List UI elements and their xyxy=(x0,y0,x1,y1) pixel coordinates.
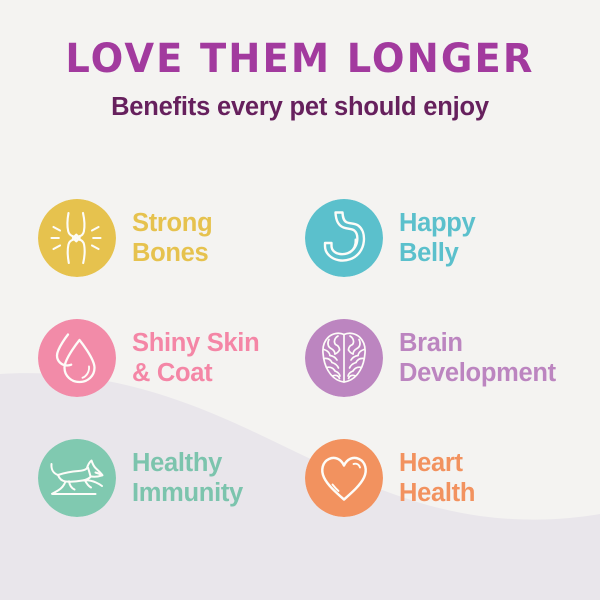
heart-icon xyxy=(305,439,383,517)
benefit-item-happy-belly[interactable]: Happy Belly xyxy=(305,178,572,298)
benefit-label-brain-development: Brain Development xyxy=(399,328,556,388)
page-subtitle: Benefits every pet should enjoy xyxy=(0,80,600,122)
page-title: LOVE THEM LONGER xyxy=(12,0,588,80)
benefit-label-shiny-skin-coat: Shiny Skin & Coat xyxy=(132,328,259,388)
icon-circle-bg xyxy=(38,439,116,517)
benefit-label-heart-health: Heart Health xyxy=(399,448,475,508)
icon-circle-bg xyxy=(305,199,383,277)
benefit-item-heart-health[interactable]: Heart Health xyxy=(305,418,572,538)
running-dog-icon xyxy=(38,439,116,517)
benefit-item-brain-development[interactable]: Brain Development xyxy=(305,298,572,418)
icon-circle-bg xyxy=(305,439,383,517)
header: LOVE THEM LONGER Benefits every pet shou… xyxy=(0,0,600,122)
benefit-label-strong-bones: Strong Bones xyxy=(132,208,212,268)
benefit-item-shiny-skin-coat[interactable]: Shiny Skin & Coat xyxy=(38,298,305,418)
icon-circle-bg xyxy=(38,319,116,397)
brain-icon xyxy=(305,319,383,397)
infographic-poster: LOVE THEM LONGER Benefits every pet shou… xyxy=(0,0,600,600)
benefit-grid: Strong Bones Happy Belly xyxy=(38,178,598,538)
benefit-item-strong-bones[interactable]: Strong Bones xyxy=(38,178,305,298)
benefit-item-healthy-immunity[interactable]: Healthy Immunity xyxy=(38,418,305,538)
water-droplets-icon xyxy=(38,319,116,397)
benefit-label-happy-belly: Happy Belly xyxy=(399,208,475,268)
stomach-icon xyxy=(305,199,383,277)
benefit-label-healthy-immunity: Healthy Immunity xyxy=(132,448,243,508)
bone-joint-icon xyxy=(38,199,116,277)
